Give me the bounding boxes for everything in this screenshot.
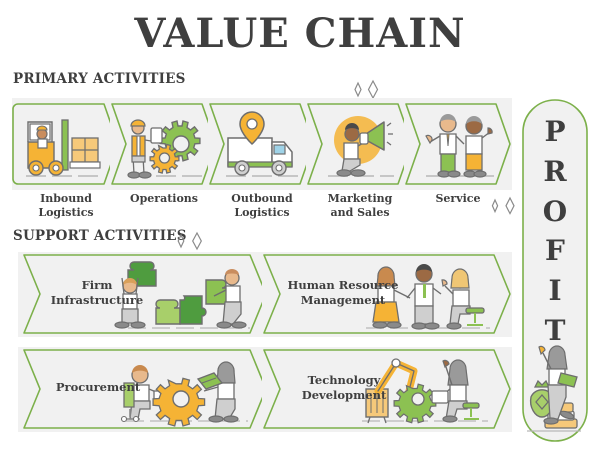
primary-card-marketing-and-sales[interactable] bbox=[306, 98, 414, 190]
profit-letter: F bbox=[521, 231, 589, 271]
megaphone-icon bbox=[306, 98, 414, 190]
support-label-procurement: Procurement bbox=[42, 380, 154, 395]
primary-label-marketing-and-sales: Marketing and Sales bbox=[306, 192, 414, 220]
profit-letter: O bbox=[521, 192, 589, 232]
primary-label-service: Service bbox=[404, 192, 512, 206]
support-activities-heading: SUPPORT ACTIVITIES bbox=[13, 228, 187, 244]
profit-letter: I bbox=[521, 271, 589, 311]
value-chain-infographic: VALUE CHAIN PRIMARY ACTIVITIES SUPPORT A… bbox=[0, 0, 600, 450]
support-card-firm-infrastructure[interactable]: Firm Infrastructure bbox=[18, 252, 268, 337]
primary-card-service[interactable] bbox=[404, 98, 512, 190]
profit-letter: P bbox=[521, 112, 589, 152]
page-title: VALUE CHAIN bbox=[0, 14, 600, 54]
support-card-technology-development[interactable]: Technology Development bbox=[262, 347, 512, 432]
delivery-truck-pin-icon bbox=[208, 98, 316, 190]
support-card-procurement[interactable]: Procurement bbox=[18, 347, 268, 432]
support-people-icon bbox=[404, 98, 512, 190]
profit-letters: P R O F I T bbox=[521, 112, 589, 351]
support-card-human-resource-management[interactable]: Human Resource Management bbox=[262, 252, 512, 337]
profit-letter: R bbox=[521, 152, 589, 192]
support-label-human-resource-management: Human Resource Management bbox=[282, 278, 404, 308]
primary-activities-heading: PRIMARY ACTIVITIES bbox=[13, 71, 186, 87]
worker-gears-icon bbox=[110, 98, 218, 190]
primary-label-operations: Operations bbox=[110, 192, 218, 206]
primary-card-inbound-logistics[interactable] bbox=[12, 98, 120, 190]
forklift-icon bbox=[12, 98, 120, 190]
profit-bar[interactable]: P R O F I T bbox=[521, 98, 589, 443]
primary-label-inbound-logistics: Inbound Logistics bbox=[12, 192, 120, 220]
primary-card-outbound-logistics[interactable] bbox=[208, 98, 316, 190]
primary-card-operations[interactable] bbox=[110, 98, 218, 190]
primary-label-outbound-logistics: Outbound Logistics bbox=[208, 192, 316, 220]
support-label-firm-infrastructure: Firm Infrastructure bbox=[42, 278, 152, 308]
celebration-money-icon bbox=[521, 333, 589, 443]
support-label-technology-development: Technology Development bbox=[282, 373, 406, 403]
sparkle-icon bbox=[172, 231, 212, 253]
